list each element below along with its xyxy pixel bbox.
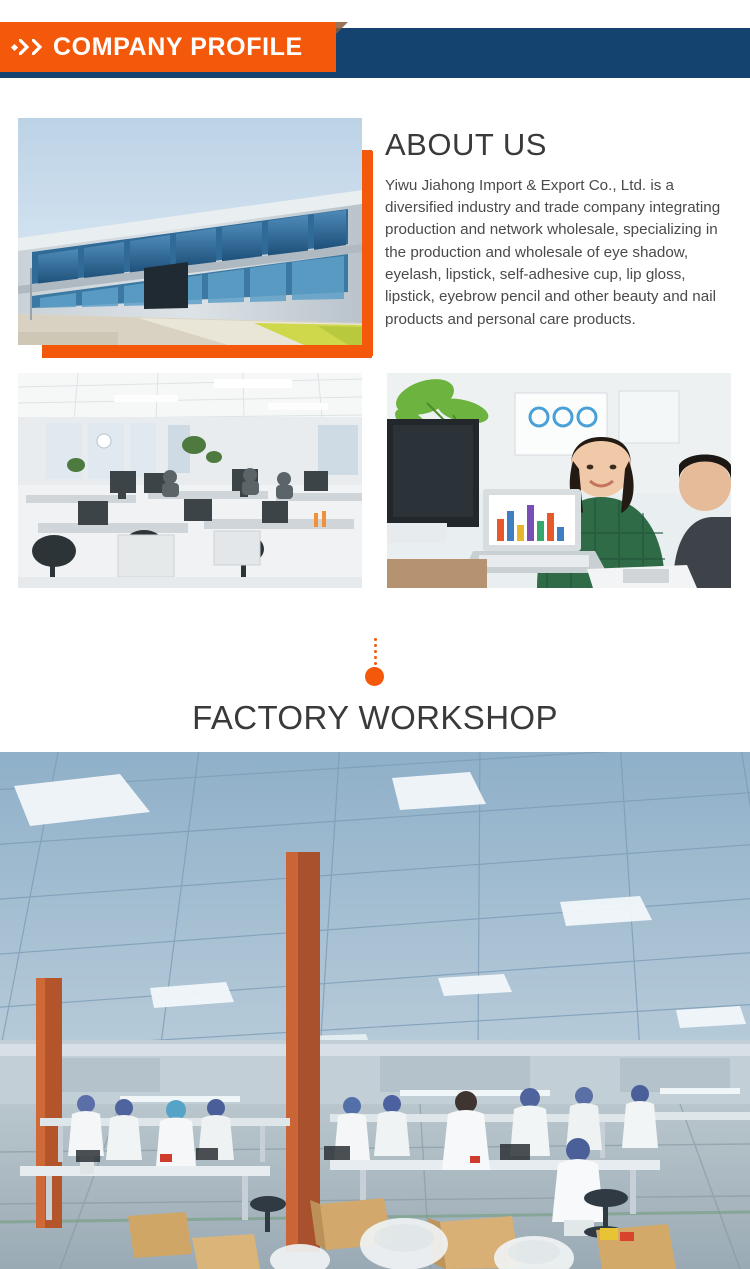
- dotted-pin-divider-icon: [371, 638, 380, 670]
- about-text-block: ABOUT US Yiwu Jiahong Import & Export Co…: [385, 128, 730, 331]
- workshop-section-title: FACTORY WORKSHOP: [0, 700, 750, 737]
- chevron-dot-shape: [11, 43, 18, 50]
- gallery-photo-staff: [387, 373, 731, 588]
- pin-dot: [374, 650, 377, 653]
- double-chevron-right-icon: [12, 39, 43, 55]
- page-title: COMPANY PROFILE: [53, 35, 303, 60]
- gallery-photo-office: [18, 373, 362, 588]
- about-heading-accent-bar: [365, 151, 373, 356]
- company-profile-page: COMPANY PROFILE: [0, 0, 750, 1269]
- pin-dot: [374, 656, 377, 659]
- about-body-text: Yiwu Jiahong Import & Export Co., Ltd. i…: [385, 175, 730, 331]
- pin-dot: [374, 662, 377, 665]
- header-content: COMPANY PROFILE: [0, 22, 336, 72]
- pin-ball-shape: [365, 667, 384, 686]
- pin-dot: [374, 644, 377, 647]
- pin-dot: [374, 638, 377, 641]
- chevron-glyph-1: [19, 39, 30, 55]
- about-photo: [18, 118, 362, 345]
- section-header-banner: COMPANY PROFILE: [0, 28, 750, 78]
- chevron-glyph-2: [32, 39, 43, 55]
- ribbon-fold-shape: [336, 22, 348, 34]
- about-heading: ABOUT US: [385, 128, 730, 163]
- workshop-photo: [0, 752, 750, 1269]
